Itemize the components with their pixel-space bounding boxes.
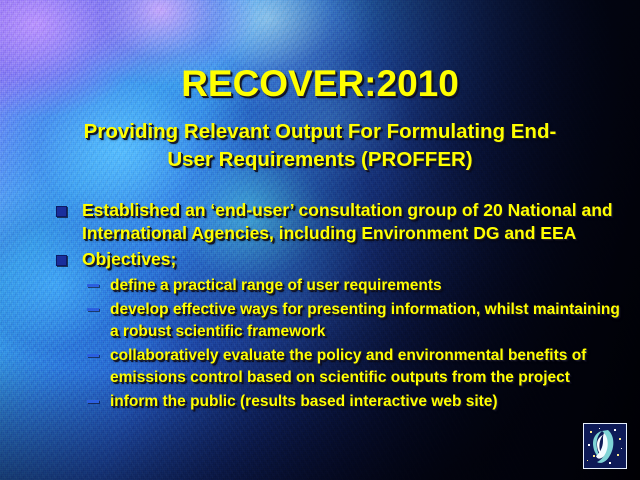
slide-content: RECOVER:2010 Providing Relevant Output F… <box>0 0 640 480</box>
slide-subtitle: Providing Relevant Output For Formulatin… <box>50 118 590 174</box>
presentation-slide: RECOVER:2010 Providing Relevant Output F… <box>0 0 640 480</box>
bullet-text: collaboratively evaluate the policy and … <box>110 347 586 386</box>
bullet-text: define a practical range of user require… <box>110 277 442 294</box>
bullet-text: inform the public (results based interac… <box>110 393 498 410</box>
bullet-item-level1: Objectives; <box>52 248 630 271</box>
square-bullet-icon <box>56 206 67 217</box>
bullet-text: Established an ‘end-user’ consultation g… <box>82 200 613 243</box>
bullet-item-level1: Established an ‘end-user’ consultation g… <box>52 199 630 245</box>
subtitle-line-2: User Requirements (PROFFER) <box>50 146 590 174</box>
en-dash-bullet-icon <box>87 284 99 287</box>
slide-title: RECOVER:2010 <box>0 64 640 104</box>
en-dash-bullet-icon <box>87 308 99 311</box>
sub-bullet-list: define a practical range of user require… <box>52 275 630 413</box>
bullet-item-level2: define a practical range of user require… <box>85 275 630 297</box>
square-bullet-icon <box>56 255 67 266</box>
bullet-text: Objectives; <box>82 249 176 269</box>
subtitle-line-1: Providing Relevant Output For Formulatin… <box>50 118 590 146</box>
leaf-emblem-logo <box>583 423 627 469</box>
bullet-text: develop effective ways for presenting in… <box>110 301 620 340</box>
en-dash-bullet-icon <box>87 354 99 357</box>
bullet-item-level2: develop effective ways for presenting in… <box>85 299 630 343</box>
bullet-list: Established an ‘end-user’ consultation g… <box>52 199 630 415</box>
bullet-item-level2: inform the public (results based interac… <box>85 391 630 413</box>
en-dash-bullet-icon <box>87 400 99 403</box>
bullet-item-level2: collaboratively evaluate the policy and … <box>85 345 630 389</box>
leaf-emblem-icon <box>584 424 626 468</box>
